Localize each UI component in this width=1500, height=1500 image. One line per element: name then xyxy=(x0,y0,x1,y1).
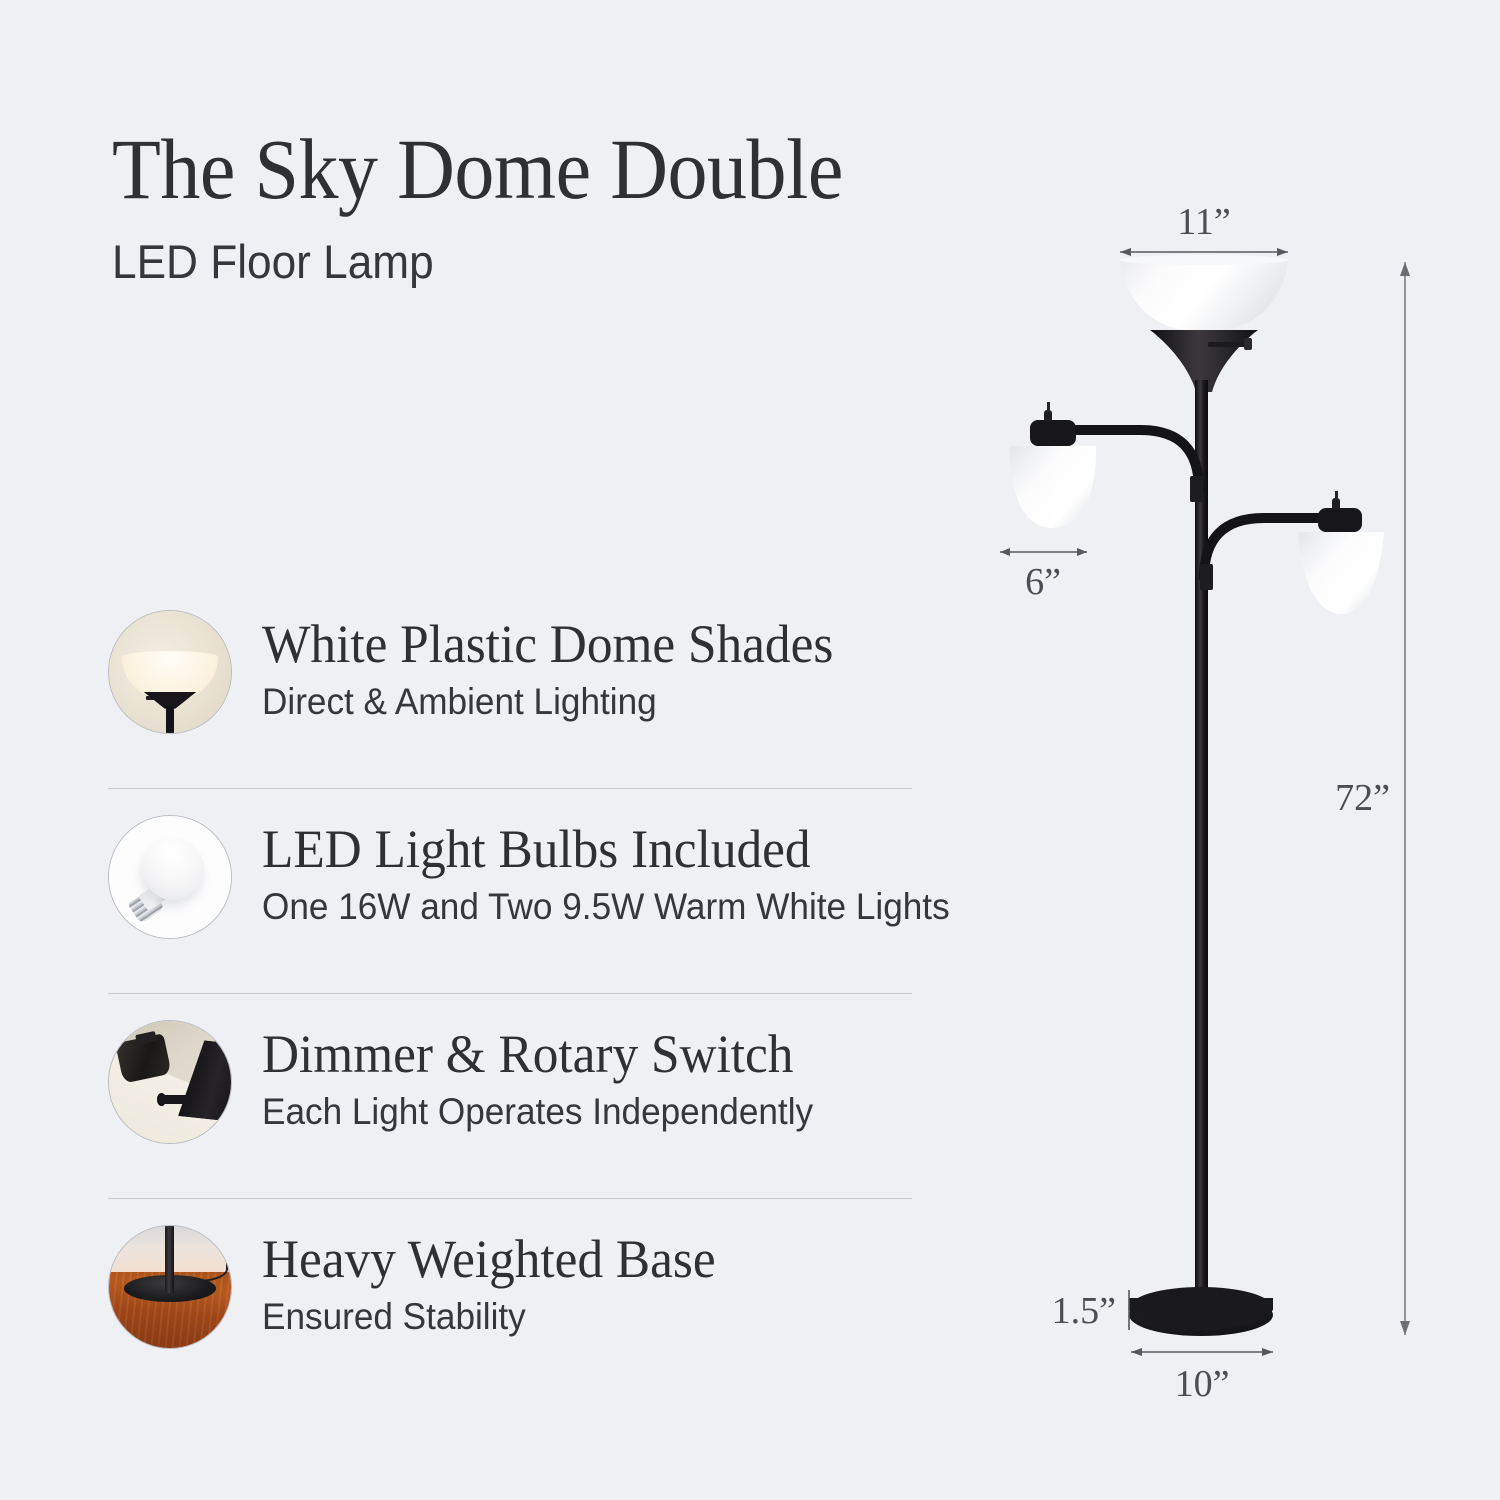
feature-subheading: Direct & Ambient Lighting xyxy=(262,682,833,723)
dimension-label-top-shade-width: 11” xyxy=(1177,201,1230,243)
feature-heading: LED Light Bulbs Included xyxy=(262,822,950,877)
feature-item-weighted-base: Heavy Weighted Base Ensured Stability xyxy=(108,1207,1048,1412)
feature-heading: Dimmer & Rotary Switch xyxy=(262,1027,813,1082)
left-dome-shade xyxy=(1010,446,1096,528)
right-dome-shade xyxy=(1298,532,1384,614)
lamp-base xyxy=(1129,1287,1273,1336)
feature-divider xyxy=(108,993,912,994)
page-subtitle: LED Floor Lamp xyxy=(112,234,1052,289)
feature-heading: White Plastic Dome Shades xyxy=(262,617,833,672)
dimension-label-base-height: 1.5” xyxy=(1052,1290,1116,1332)
weighted-base-icon xyxy=(108,1225,232,1349)
top-dome-shade xyxy=(1120,255,1288,332)
led-bulb-icon xyxy=(108,815,232,939)
dimension-total-height: 72” xyxy=(1335,262,1410,1335)
feature-subheading: Ensured Stability xyxy=(262,1297,716,1338)
feature-subheading: Each Light Operates Independently xyxy=(262,1092,813,1133)
feature-item-led-bulbs: LED Light Bulbs Included One 16W and Two… xyxy=(108,797,1048,1002)
feature-list: White Plastic Dome Shades Direct & Ambie… xyxy=(108,592,1048,1412)
lit-torchiere-shade-icon xyxy=(108,610,232,734)
rotary-switch-icon xyxy=(108,1020,232,1144)
dimension-base-diameter: 10” xyxy=(1131,1348,1273,1405)
dimension-side-shade-width: 6” xyxy=(1000,548,1087,603)
page-title: The Sky Dome Double xyxy=(112,126,1042,212)
dimension-label-total-height: 72” xyxy=(1335,777,1390,819)
left-socket-cap xyxy=(1030,402,1076,446)
right-socket-cap xyxy=(1318,491,1362,532)
feature-heading: Heavy Weighted Base xyxy=(262,1232,716,1287)
feature-divider xyxy=(108,788,912,789)
feature-subheading: One 16W and Two 9.5W Warm White Lights xyxy=(262,887,950,928)
feature-divider xyxy=(108,1198,912,1199)
lamp-illustration: 11” xyxy=(950,180,1450,1440)
dimension-top-shade-width: 11” xyxy=(1120,201,1288,256)
feature-item-dome-shades: White Plastic Dome Shades Direct & Ambie… xyxy=(108,592,1048,797)
feature-item-dimmer-switch: Dimmer & Rotary Switch Each Light Operat… xyxy=(108,1002,1048,1207)
dimension-base-height: 1.5” xyxy=(1052,1290,1129,1332)
lamp-pole xyxy=(1195,380,1208,1300)
dimension-label-side-shade-width: 6” xyxy=(1025,561,1061,603)
dimension-label-base-diameter: 10” xyxy=(1175,1363,1230,1405)
infographic-canvas: The Sky Dome Double LED Floor Lamp White… xyxy=(0,0,1500,1500)
